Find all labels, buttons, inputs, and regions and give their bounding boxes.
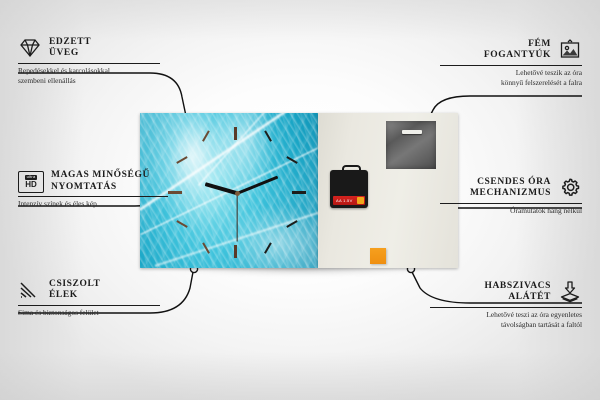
callout-title: HABSZIVACS ALÁTÉT bbox=[484, 281, 551, 304]
gear-icon bbox=[558, 176, 582, 200]
metal-hanger bbox=[386, 121, 436, 169]
callout-header: HABSZIVACS ALÁTÉT bbox=[430, 280, 582, 304]
callout-foam-pad: HABSZIVACS ALÁTÉT Lehetővé teszi az óra … bbox=[430, 280, 582, 329]
callout-divider bbox=[18, 305, 160, 306]
ultra-hd-top-label: ultra bbox=[25, 175, 38, 180]
callout-header: CSISZOLT ÉLEK bbox=[18, 278, 160, 302]
callout-description: Intenzív színek és éles kép bbox=[18, 199, 168, 209]
foam-pad bbox=[370, 248, 386, 264]
callout-metal-handles: FÉM FOGANTYÚK Lehetővé teszik az óra kön… bbox=[440, 38, 582, 87]
callout-title: FÉM FOGANTYÚK bbox=[484, 39, 551, 62]
callout-quiet-mechanism: CSENDES ÓRA MECHANIZMUS Óramutatók hang … bbox=[440, 176, 582, 216]
callout-header: ultra HD MAGAS MINŐSÉGŰ NYOMTATÁS bbox=[18, 170, 168, 193]
callout-high-quality-print: ultra HD MAGAS MINŐSÉGŰ NYOMTATÁS Intenz… bbox=[18, 170, 168, 209]
foam-layers-icon bbox=[558, 280, 582, 304]
callout-title: CSENDES ÓRA MECHANIZMUS bbox=[470, 177, 551, 200]
battery-label: AA 1.5V bbox=[336, 198, 353, 203]
ultra-hd-main-label: HD bbox=[25, 181, 37, 189]
diamond-icon bbox=[18, 36, 42, 60]
clock-tick bbox=[234, 245, 237, 258]
callout-description: Óramutatók hang nélkül bbox=[440, 206, 582, 216]
battery: AA 1.5V bbox=[333, 196, 365, 205]
clock-tick bbox=[292, 191, 306, 194]
hanger-slot bbox=[402, 130, 422, 134]
clock-tick bbox=[234, 127, 237, 140]
mechanism-loop bbox=[342, 165, 361, 175]
callout-divider bbox=[18, 63, 160, 64]
callout-tempered-glass: EDZETT ÜVEG Repedésekkel és karcolásokka… bbox=[18, 36, 160, 85]
infographic-canvas: AA 1.5V EDZETT ÜVEG Repedésekkel és karc… bbox=[0, 0, 600, 400]
product-image: AA 1.5V bbox=[140, 113, 458, 268]
callout-description: Lehetővé teszik az óra könnyű felszerelé… bbox=[440, 68, 582, 87]
callout-header: CSENDES ÓRA MECHANIZMUS bbox=[440, 176, 582, 200]
callout-divider bbox=[440, 203, 582, 204]
clock-center-cap bbox=[235, 191, 240, 196]
clock-mechanism: AA 1.5V bbox=[330, 170, 368, 208]
callout-header: EDZETT ÜVEG bbox=[18, 36, 160, 60]
clock-second-hand bbox=[236, 194, 237, 242]
callout-divider bbox=[440, 65, 582, 66]
polished-edge-icon bbox=[18, 278, 42, 302]
callout-polished-edges: CSISZOLT ÉLEK Sima és biztonságos felüle… bbox=[18, 278, 160, 318]
callout-divider bbox=[430, 307, 582, 308]
battery-plus-terminal bbox=[357, 197, 364, 204]
callout-title: CSISZOLT ÉLEK bbox=[49, 279, 100, 302]
picture-frame-icon bbox=[558, 38, 582, 62]
callout-description: Repedésekkel és karcolásokkal szembeni e… bbox=[18, 66, 160, 85]
ultra-hd-icon: ultra HD bbox=[18, 171, 44, 193]
callout-header: FÉM FOGANTYÚK bbox=[440, 38, 582, 62]
callout-description: Lehetővé teszi az óra egyenletes távolsá… bbox=[430, 310, 582, 329]
callout-title: MAGAS MINŐSÉGŰ NYOMTATÁS bbox=[51, 170, 150, 193]
callout-description: Sima és biztonságos felület bbox=[18, 308, 160, 318]
callout-title: EDZETT ÜVEG bbox=[49, 37, 91, 60]
clock-back-panel: AA 1.5V bbox=[318, 113, 458, 268]
clock-tick bbox=[168, 191, 182, 194]
callout-divider bbox=[18, 196, 168, 197]
